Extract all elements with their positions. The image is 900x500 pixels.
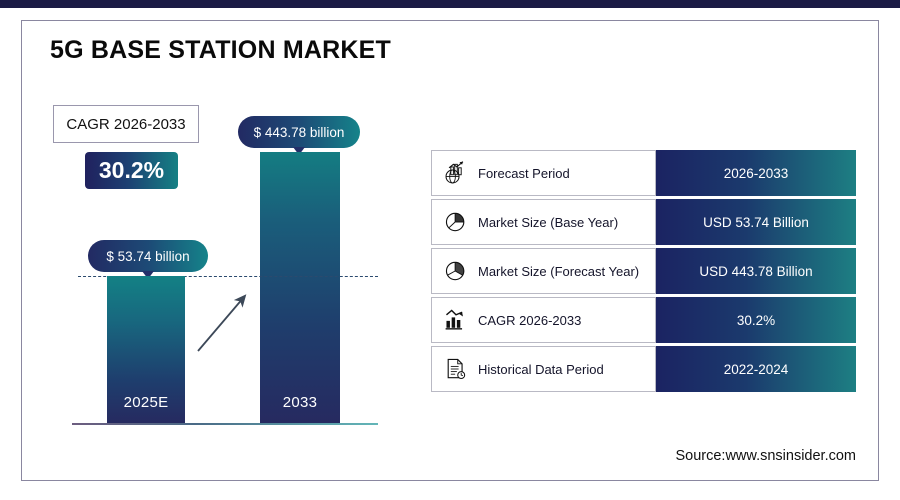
table-value-cell: 30.2% xyxy=(656,297,856,343)
table-row: Forecast Period 2026-2033 xyxy=(431,150,856,196)
table-row: Market Size (Base Year) USD 53.74 Billio… xyxy=(431,199,856,245)
pie-chart-icon xyxy=(443,208,469,236)
table-label-cell: CAGR 2026-2033 xyxy=(431,297,656,343)
table-value-cell: 2022-2024 xyxy=(656,346,856,392)
table-row: Market Size (Forecast Year) USD 443.78 B… xyxy=(431,248,856,294)
globe-growth-chart-icon xyxy=(443,159,469,187)
bar-chart-arrow-icon xyxy=(443,306,469,334)
table-value-text: 2026-2033 xyxy=(724,166,789,181)
table-label-cell: Market Size (Forecast Year) xyxy=(431,248,656,294)
table-value-text: USD 53.74 Billion xyxy=(703,215,809,230)
table-label-text: Forecast Period xyxy=(478,166,570,181)
source-attribution: Source:www.snsinsider.com xyxy=(675,448,856,464)
bar-value-callout-2025e: $ 53.74 billion xyxy=(88,240,208,272)
bar-2033: 2033 xyxy=(260,152,340,423)
growth-arrow-icon xyxy=(190,285,260,360)
table-value-text: USD 443.78 Billion xyxy=(699,264,812,279)
table-value-cell: 2026-2033 xyxy=(656,150,856,196)
table-label-cell: Historical Data Period xyxy=(431,346,656,392)
table-label-text: Market Size (Base Year) xyxy=(478,215,618,230)
bar-category-label-2033: 2033 xyxy=(260,394,340,411)
document-clock-icon xyxy=(443,355,469,383)
table-label-text: Historical Data Period xyxy=(478,362,604,377)
table-value-text: 30.2% xyxy=(737,313,775,328)
bar-value-label-2033: $ 443.78 billion xyxy=(254,125,345,140)
metrics-table: Forecast Period 2026-2033 Market Size (B… xyxy=(431,150,856,395)
table-label-text: Market Size (Forecast Year) xyxy=(478,264,639,279)
chart-baseline xyxy=(72,423,378,425)
table-label-cell: Market Size (Base Year) xyxy=(431,199,656,245)
bar-value-label-2025e: $ 53.74 billion xyxy=(106,249,189,264)
table-label-text: CAGR 2026-2033 xyxy=(478,313,581,328)
table-row: CAGR 2026-2033 30.2% xyxy=(431,297,856,343)
table-label-cell: Forecast Period xyxy=(431,150,656,196)
table-value-text: 2022-2024 xyxy=(724,362,789,377)
bar-value-callout-2033: $ 443.78 billion xyxy=(238,116,360,148)
table-value-cell: USD 53.74 Billion xyxy=(656,199,856,245)
table-row: Historical Data Period 2022-2024 xyxy=(431,346,856,392)
table-value-cell: USD 443.78 Billion xyxy=(656,248,856,294)
bar-category-label-2025e: 2025E xyxy=(107,394,185,411)
pie-chart-three-segment-icon xyxy=(443,257,469,285)
bar-chart: $ 443.78 billion 2033 $ 53.74 billion 20… xyxy=(0,0,430,461)
bar-2025e: 2025E xyxy=(107,276,185,423)
